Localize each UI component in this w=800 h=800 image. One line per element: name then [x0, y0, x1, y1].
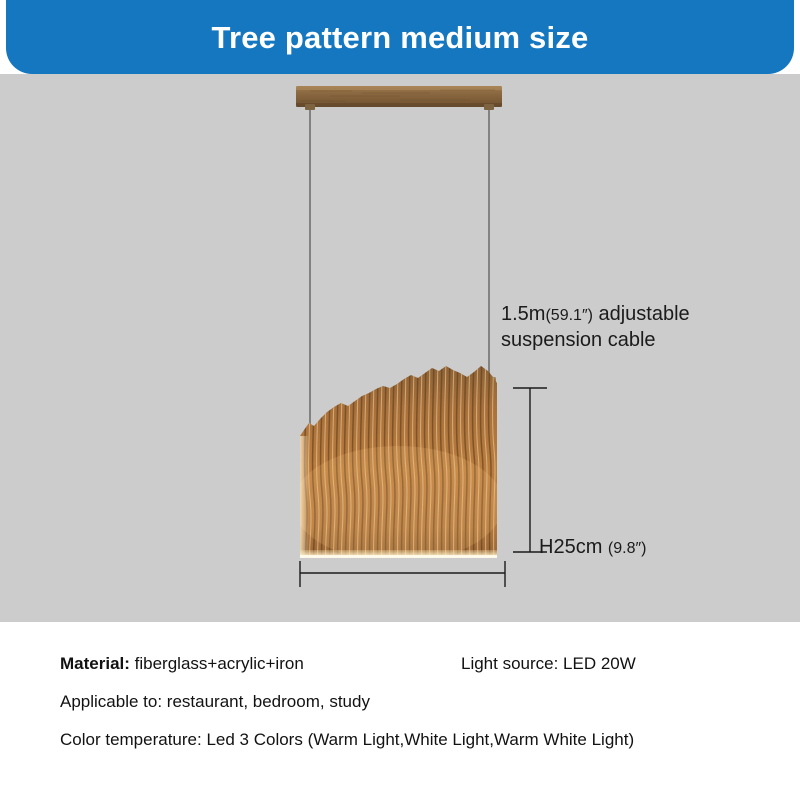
- spec-material-value: fiberglass+acrylic+iron: [130, 654, 304, 673]
- suspension-cable-annotation: 1.5m(59.1″) adjustable suspension cable: [501, 302, 690, 353]
- cable-length-imperial: (59.1″): [545, 307, 592, 324]
- tree-pattern-lamp-shade: [293, 319, 503, 566]
- cable-note-line2: suspension cable: [501, 329, 656, 351]
- spec-material-label: Material:: [60, 654, 130, 673]
- spec-applicable-to: Applicable to: restaurant, bedroom, stud…: [60, 692, 370, 712]
- page-title: Tree pattern medium size: [212, 22, 589, 53]
- height-value: H25cm: [539, 536, 602, 558]
- header-banner: Tree pattern medium size: [6, 0, 794, 74]
- product-image-area: 1.5m(59.1″) adjustable suspension cable …: [0, 74, 800, 622]
- height-dimension-label: H25cm (9.8″): [539, 535, 646, 561]
- height-dimension-line: [513, 388, 547, 552]
- wood-canopy-bar: [296, 86, 502, 107]
- cable-connector-top-left: [305, 104, 315, 110]
- product-spec-page: Tree pattern medium size: [0, 0, 800, 800]
- spec-material: Material: fiberglass+acrylic+iron: [60, 654, 304, 674]
- cable-connector-top-right: [484, 104, 494, 110]
- width-dimension-line: [300, 561, 505, 587]
- cable-adjustable-text: adjustable: [593, 303, 690, 325]
- specifications-panel: Material: fiberglass+acrylic+iron Light …: [0, 622, 800, 800]
- height-imperial: (9.8″): [608, 540, 647, 557]
- cable-length-value: 1.5m: [501, 303, 545, 325]
- spec-light-source: Light source: LED 20W: [461, 654, 636, 674]
- spec-color-temperature: Color temperature: Led 3 Colors (Warm Li…: [60, 730, 634, 750]
